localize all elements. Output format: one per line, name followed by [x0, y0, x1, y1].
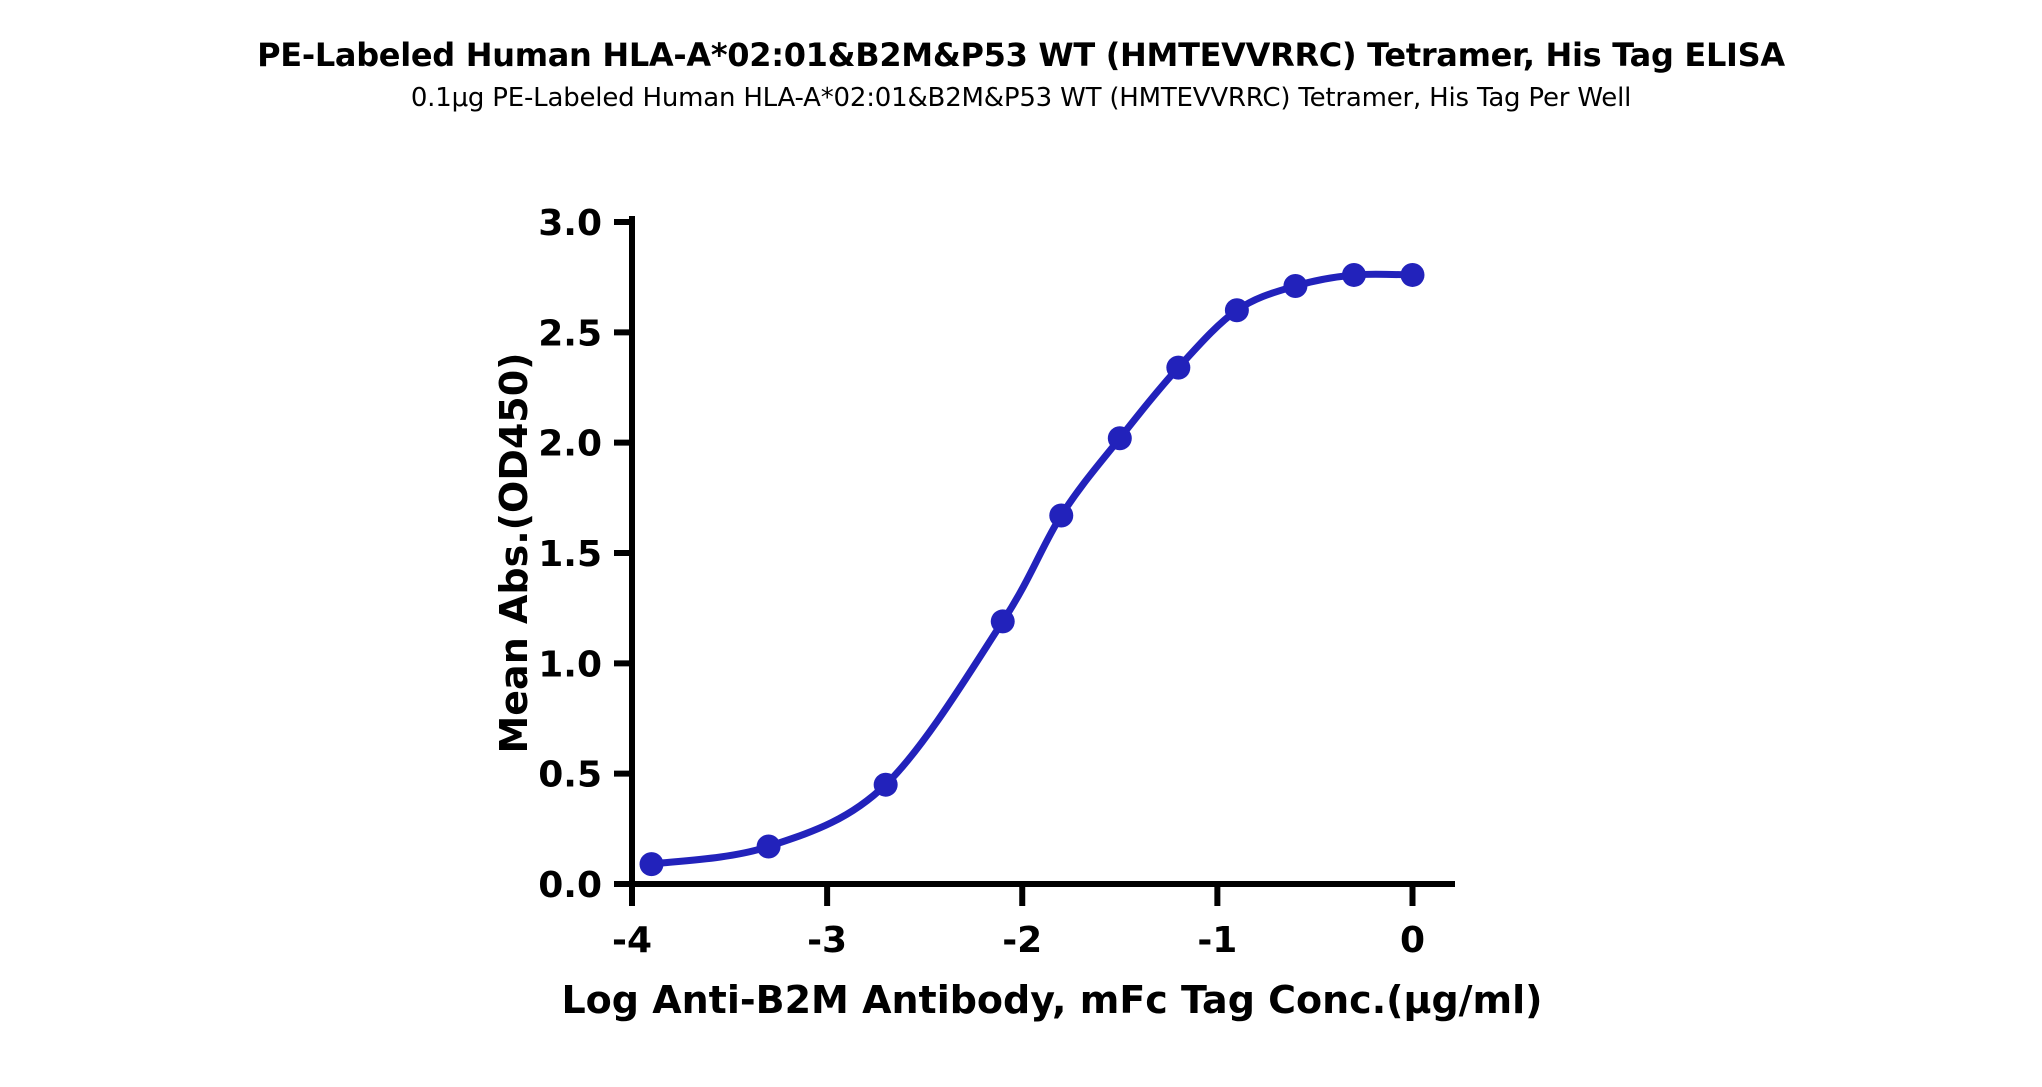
data-point	[991, 609, 1015, 633]
elisa-binding-chart: 0.00.51.01.52.02.53.0 -4-3-2-10 Mean Abs…	[0, 0, 2042, 1087]
data-point	[640, 852, 664, 876]
y-tick-label: 0.0	[538, 865, 602, 906]
x-tick-label: 0	[1400, 920, 1425, 961]
series-curve	[652, 274, 1413, 864]
x-tick-label: -3	[807, 920, 847, 961]
data-point	[874, 773, 898, 797]
y-axis-ticks: 0.00.51.01.52.02.53.0	[538, 203, 632, 906]
y-tick-label: 1.5	[538, 534, 602, 575]
y-axis-title: Mean Abs.(OD450)	[492, 352, 536, 753]
y-tick-label: 2.0	[538, 424, 602, 465]
x-tick-label: -4	[612, 920, 652, 961]
x-tick-label: -1	[1197, 920, 1237, 961]
chart-canvas: 0.00.51.01.52.02.53.0 -4-3-2-10 Mean Abs…	[0, 0, 2042, 1087]
x-axis-title: Log Anti-B2M Antibody, mFc Tag Conc.(μg/…	[561, 978, 1542, 1022]
y-tick-label: 0.5	[538, 755, 602, 796]
y-tick-label: 2.5	[538, 313, 602, 354]
data-point	[1283, 274, 1307, 298]
data-point	[1400, 263, 1424, 287]
y-tick-label: 3.0	[538, 203, 602, 244]
x-tick-label: -2	[1002, 920, 1042, 961]
data-point	[1166, 356, 1190, 380]
data-point	[1225, 298, 1249, 322]
y-tick-label: 1.0	[538, 644, 602, 685]
data-point	[1108, 426, 1132, 450]
data-point	[1342, 263, 1366, 287]
data-point	[1049, 503, 1073, 527]
x-axis-ticks: -4-3-2-10	[612, 884, 1425, 961]
data-point	[757, 834, 781, 858]
